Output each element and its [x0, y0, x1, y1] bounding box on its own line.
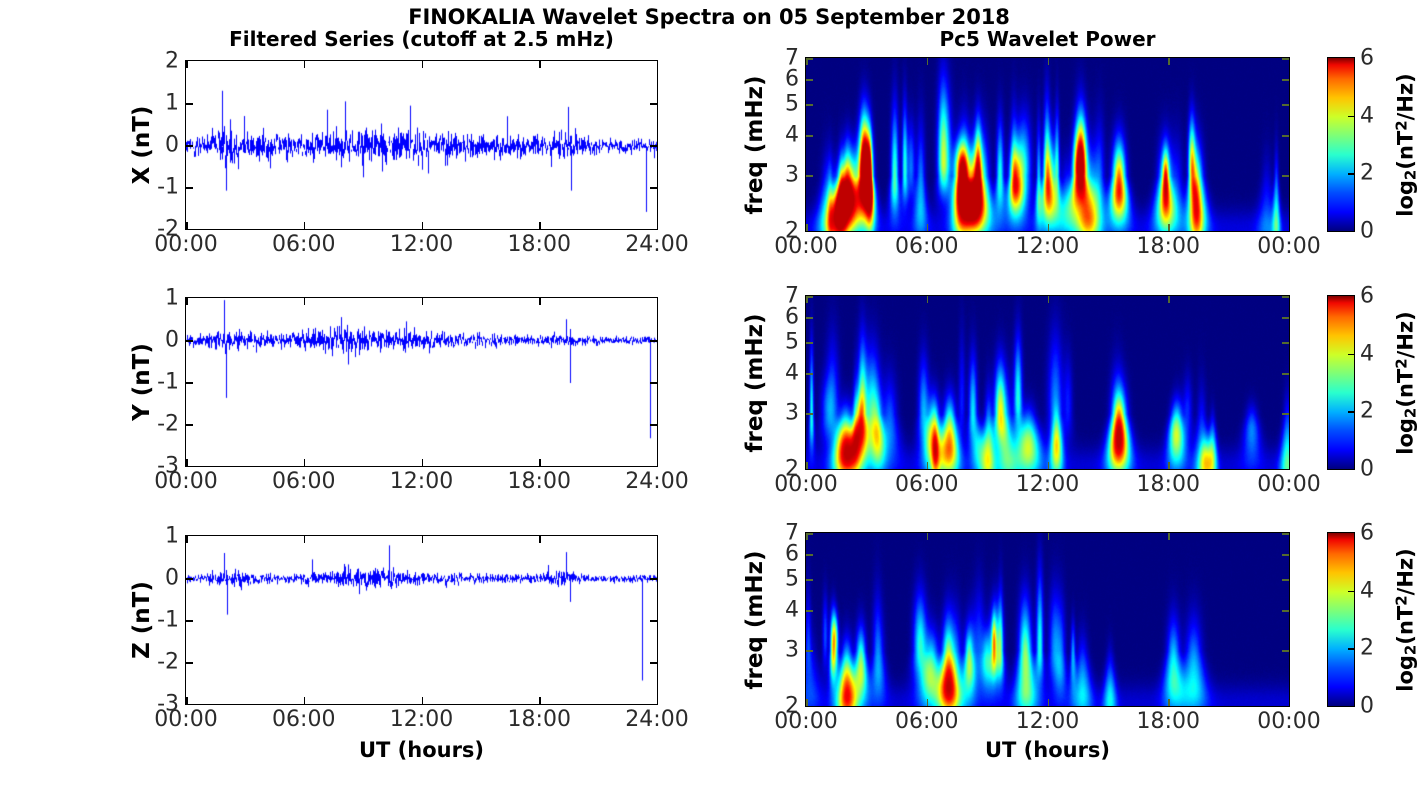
colorbar-z [1327, 532, 1355, 707]
colorbar-tick-label-z-pc5-wavelet-power-1: 2 [1360, 636, 1374, 661]
x-tick-top-y-pc5-wavelet-power-1 [927, 296, 929, 303]
y-tick-y-pc5-wavelet-power-5 [806, 296, 813, 298]
y-tick-y-pc5-wavelet-power-3 [806, 342, 813, 344]
y-tick-r-x-pc5-wavelet-power-4 [1282, 79, 1289, 81]
x-tick-label-z-pc5-wavelet-power-3: 18:00 [1137, 709, 1200, 734]
cb-open-z: (nT [1394, 606, 1418, 645]
colorbar-tick-z-pc5-wavelet-power-1 [1348, 648, 1354, 650]
cb-sup-x: 2 [1393, 120, 1411, 130]
y-tick-label-y-filtered-series-1: -2 [133, 412, 179, 437]
y-tick-label-z-pc5-wavelet-power-5: 7 [759, 521, 799, 546]
x-tick-y-filtered-series-3 [539, 459, 541, 466]
y-tick-y-pc5-wavelet-power-0 [806, 469, 813, 470]
x-tick-label-z-filtered-series-1: 06:00 [272, 707, 335, 732]
x-tick-top-z-pc5-wavelet-power-4 [1289, 533, 1290, 540]
y-tick-label-x-filtered-series-1: -1 [133, 175, 179, 200]
x-tick-x-filtered-series-4 [657, 222, 658, 229]
y-tick-r-z-filtered-series-3 [650, 578, 657, 580]
colorbar-tick-label-y-pc5-wavelet-power-1: 2 [1360, 399, 1374, 424]
x-tick-z-pc5-wavelet-power-1 [927, 699, 929, 706]
heatmap-y [806, 296, 1290, 470]
x-tick-z-pc5-wavelet-power-0 [806, 699, 808, 706]
x-tick-x-pc5-wavelet-power-4 [1289, 224, 1290, 231]
colorbar-tick-label-y-pc5-wavelet-power-3: 6 [1360, 284, 1374, 309]
x-tick-x-pc5-wavelet-power-1 [927, 224, 929, 231]
x-tick-top-x-filtered-series-1 [304, 61, 306, 68]
x-tick-top-y-pc5-wavelet-power-4 [1289, 296, 1290, 303]
y-tick-y-pc5-wavelet-power-1 [806, 413, 813, 415]
y-tick-x-filtered-series-2 [186, 145, 193, 147]
colorbar-tick-y-pc5-wavelet-power-2 [1348, 354, 1354, 356]
x-tick-label-z-filtered-series-2: 12:00 [390, 707, 453, 732]
y-tick-label-x-pc5-wavelet-power-4: 6 [759, 67, 799, 92]
y-tick-label-z-pc5-wavelet-power-0: 2 [759, 694, 799, 719]
colorbar-tick-label-x-pc5-wavelet-power-2: 4 [1360, 103, 1374, 128]
cb-sup-z: 2 [1393, 595, 1411, 605]
plot-y-filtered-series [185, 297, 658, 467]
y-tick-label-y-filtered-series-0: -3 [133, 454, 179, 479]
cb-log-y: log [1394, 418, 1418, 455]
y-tick-label-z-pc5-wavelet-power-3: 5 [759, 567, 799, 592]
y-tick-label-z-filtered-series-1: -2 [133, 650, 179, 675]
y-tick-r-x-filtered-series-3 [650, 103, 657, 105]
colorbar-tick-label-z-pc5-wavelet-power-3: 6 [1360, 521, 1374, 546]
y-tick-label-z-filtered-series-4: 1 [133, 524, 179, 549]
colorbar-tick-label-y-pc5-wavelet-power-2: 4 [1360, 341, 1374, 366]
y-tick-z-pc5-wavelet-power-3 [806, 579, 813, 581]
y-tick-r-z-pc5-wavelet-power-0 [1282, 706, 1289, 707]
y-tick-r-z-pc5-wavelet-power-5 [1282, 533, 1289, 535]
y-tick-r-x-pc5-wavelet-power-2 [1282, 135, 1289, 137]
x-tick-label-z-pc5-wavelet-power-2: 12:00 [1016, 709, 1079, 734]
colorbar-tick-label-y-pc5-wavelet-power-0: 0 [1360, 457, 1374, 482]
y-tick-label-z-pc5-wavelet-power-1: 3 [759, 638, 799, 663]
x-tick-label-y-pc5-wavelet-power-2: 12:00 [1016, 472, 1079, 497]
y-tick-y-filtered-series-3 [186, 340, 193, 342]
x-tick-label-x-pc5-wavelet-power-1: 06:00 [895, 234, 958, 259]
y-tick-label-x-pc5-wavelet-power-2: 4 [759, 123, 799, 148]
colorbar-tick-label-x-pc5-wavelet-power-0: 0 [1360, 219, 1374, 244]
y-tick-r-x-pc5-wavelet-power-1 [1282, 175, 1289, 177]
y-tick-r-x-filtered-series-2 [650, 145, 657, 147]
x-tick-label-x-filtered-series-4: 24:00 [625, 232, 688, 257]
cb-end-x: /Hz) [1394, 73, 1418, 120]
y-tick-z-filtered-series-1 [186, 662, 193, 664]
y-tick-r-y-pc5-wavelet-power-3 [1282, 342, 1289, 344]
y-tick-z-pc5-wavelet-power-4 [806, 554, 813, 556]
cb-sup-y: 2 [1393, 358, 1411, 368]
x-tick-x-pc5-wavelet-power-2 [1048, 224, 1050, 231]
colorbar-tick-y-pc5-wavelet-power-1 [1348, 411, 1354, 413]
y-tick-r-z-pc5-wavelet-power-1 [1282, 650, 1289, 652]
y-tick-x-pc5-wavelet-power-0 [806, 231, 813, 232]
x-tick-y-pc5-wavelet-power-1 [927, 462, 929, 469]
x-tick-top-z-filtered-series-4 [657, 536, 658, 543]
cb-end-y: /Hz) [1394, 311, 1418, 358]
x-tick-top-z-filtered-series-1 [304, 536, 306, 543]
x-tick-z-filtered-series-2 [422, 697, 424, 704]
colorbar-tick-z-pc5-wavelet-power-2 [1348, 591, 1354, 593]
x-tick-top-z-filtered-series-2 [422, 536, 424, 543]
y-tick-z-filtered-series-2 [186, 620, 193, 622]
figure-title: FINOKALIA Wavelet Spectra on 05 Septembe… [0, 5, 1418, 29]
cb-sub-x: 2 [1402, 170, 1418, 180]
x-tick-y-pc5-wavelet-power-3 [1168, 462, 1170, 469]
x-tick-top-x-pc5-wavelet-power-1 [927, 58, 929, 65]
x-tick-x-pc5-wavelet-power-3 [1168, 224, 1170, 231]
colorbar-tick-label-x-pc5-wavelet-power-3: 6 [1360, 46, 1374, 71]
x-tick-top-x-pc5-wavelet-power-3 [1168, 58, 1170, 65]
y-tick-label-y-pc5-wavelet-power-5: 7 [759, 284, 799, 309]
right-column-title: Pc5 Wavelet Power [805, 27, 1290, 51]
x-tick-label-x-pc5-wavelet-power-4: 00:00 [1257, 234, 1320, 259]
x-tick-top-z-pc5-wavelet-power-1 [927, 533, 929, 540]
y-tick-y-filtered-series-1 [186, 424, 193, 426]
x-tick-top-x-filtered-series-0 [186, 61, 188, 68]
cb-sub-z: 2 [1402, 645, 1418, 655]
colorbar-label-z: log2(nT2/Hz) [1393, 548, 1418, 692]
y-tick-label-y-filtered-series-2: -1 [133, 370, 179, 395]
x-tick-label-y-filtered-series-2: 12:00 [390, 469, 453, 494]
y-tick-r-y-filtered-series-3 [650, 340, 657, 342]
y-tick-label-y-pc5-wavelet-power-2: 4 [759, 361, 799, 386]
cb-end-z: /Hz) [1394, 548, 1418, 595]
colorbar-label-y: log2(nT2/Hz) [1393, 311, 1418, 455]
signal-trace-x [186, 61, 658, 230]
spectrogram-x-pc5-power [805, 57, 1290, 232]
x-tick-top-z-filtered-series-0 [186, 536, 188, 543]
y-tick-label-x-pc5-wavelet-power-0: 2 [759, 219, 799, 244]
x-tick-top-z-pc5-wavelet-power-2 [1048, 533, 1050, 540]
y-tick-r-y-filtered-series-2 [650, 382, 657, 384]
y-tick-r-y-filtered-series-1 [650, 424, 657, 426]
colorbar-tick-label-z-pc5-wavelet-power-0: 0 [1360, 694, 1374, 719]
x-tick-label-x-pc5-wavelet-power-3: 18:00 [1137, 234, 1200, 259]
y-tick-r-x-pc5-wavelet-power-0 [1282, 231, 1289, 232]
y-tick-r-z-pc5-wavelet-power-2 [1282, 610, 1289, 612]
y-tick-y-pc5-wavelet-power-4 [806, 317, 813, 319]
colorbar-tick-x-pc5-wavelet-power-1 [1348, 173, 1354, 175]
x-tick-x-filtered-series-1 [304, 222, 306, 229]
x-tick-top-x-filtered-series-3 [539, 61, 541, 68]
x-tick-top-z-filtered-series-3 [539, 536, 541, 543]
x-tick-z-filtered-series-0 [186, 697, 188, 704]
x-tick-y-filtered-series-4 [657, 459, 658, 466]
y-tick-label-z-pc5-wavelet-power-2: 4 [759, 598, 799, 623]
y-tick-x-pc5-wavelet-power-2 [806, 135, 813, 137]
colorbar-tick-label-z-pc5-wavelet-power-2: 4 [1360, 578, 1374, 603]
colorbar-tick-label-x-pc5-wavelet-power-1: 2 [1360, 161, 1374, 186]
x-tick-y-filtered-series-2 [422, 459, 424, 466]
spectrogram-y-pc5-power [805, 295, 1290, 470]
axis-label-ut-hours-right: UT (hours) [805, 738, 1290, 762]
y-tick-label-y-filtered-series-4: 1 [133, 286, 179, 311]
cb-open-y: (nT [1394, 369, 1418, 408]
y-tick-label-z-filtered-series-2: -1 [133, 608, 179, 633]
y-tick-label-y-filtered-series-3: 0 [133, 328, 179, 353]
x-tick-label-z-pc5-wavelet-power-1: 06:00 [895, 709, 958, 734]
plot-z-filtered-series [185, 535, 658, 705]
x-tick-y-filtered-series-0 [186, 459, 188, 466]
x-tick-top-y-filtered-series-2 [422, 298, 424, 305]
x-tick-x-filtered-series-2 [422, 222, 424, 229]
y-tick-label-x-pc5-wavelet-power-1: 3 [759, 163, 799, 188]
heatmap-x [806, 58, 1290, 232]
figure-canvas: FINOKALIA Wavelet Spectra on 05 Septembe… [0, 0, 1418, 788]
cb-log-x: log [1394, 180, 1418, 217]
y-tick-r-y-pc5-wavelet-power-1 [1282, 413, 1289, 415]
y-tick-r-z-pc5-wavelet-power-3 [1282, 579, 1289, 581]
x-tick-x-pc5-wavelet-power-0 [806, 224, 808, 231]
spectrogram-z-pc5-power [805, 532, 1290, 707]
x-tick-z-filtered-series-1 [304, 697, 306, 704]
x-tick-label-x-filtered-series-2: 12:00 [390, 232, 453, 257]
y-tick-r-z-filtered-series-2 [650, 620, 657, 622]
colorbar-x [1327, 57, 1355, 232]
x-tick-y-pc5-wavelet-power-2 [1048, 462, 1050, 469]
x-tick-x-filtered-series-3 [539, 222, 541, 229]
x-tick-y-pc5-wavelet-power-0 [806, 462, 808, 469]
axis-label-ut-hours-left: UT (hours) [185, 738, 658, 762]
y-tick-r-z-pc5-wavelet-power-4 [1282, 554, 1289, 556]
y-tick-label-x-filtered-series-4: 2 [133, 49, 179, 74]
signal-trace-z [186, 536, 658, 705]
x-tick-top-x-filtered-series-2 [422, 61, 424, 68]
y-tick-r-x-filtered-series-1 [650, 187, 657, 189]
y-tick-label-x-filtered-series-3: 1 [133, 91, 179, 116]
y-tick-label-x-filtered-series-0: -2 [133, 217, 179, 242]
y-tick-label-z-filtered-series-3: 0 [133, 566, 179, 591]
y-tick-x-filtered-series-3 [186, 103, 193, 105]
y-tick-label-y-pc5-wavelet-power-4: 6 [759, 305, 799, 330]
x-tick-label-z-pc5-wavelet-power-4: 00:00 [1257, 709, 1320, 734]
cb-log-z: log [1394, 655, 1418, 692]
y-tick-r-y-pc5-wavelet-power-4 [1282, 317, 1289, 319]
left-column-title: Filtered Series (cutoff at 2.5 mHz) [185, 27, 658, 51]
x-tick-label-z-filtered-series-4: 24:00 [625, 707, 688, 732]
cb-open-x: (nT [1394, 131, 1418, 170]
x-tick-z-pc5-wavelet-power-3 [1168, 699, 1170, 706]
y-tick-x-pc5-wavelet-power-3 [806, 104, 813, 106]
x-tick-top-x-pc5-wavelet-power-4 [1289, 58, 1290, 65]
x-tick-z-pc5-wavelet-power-2 [1048, 699, 1050, 706]
x-tick-label-y-filtered-series-4: 24:00 [625, 469, 688, 494]
x-tick-label-x-pc5-wavelet-power-2: 12:00 [1016, 234, 1079, 259]
x-tick-label-y-pc5-wavelet-power-3: 18:00 [1137, 472, 1200, 497]
y-tick-y-filtered-series-2 [186, 382, 193, 384]
y-tick-label-x-pc5-wavelet-power-5: 7 [759, 46, 799, 71]
x-tick-top-y-filtered-series-3 [539, 298, 541, 305]
x-tick-z-filtered-series-3 [539, 697, 541, 704]
y-tick-x-filtered-series-1 [186, 187, 193, 189]
signal-trace-y [186, 298, 658, 467]
heatmap-z [806, 533, 1290, 707]
y-tick-z-pc5-wavelet-power-2 [806, 610, 813, 612]
colorbar-y [1327, 295, 1355, 470]
y-tick-label-x-filtered-series-2: 0 [133, 133, 179, 158]
y-tick-x-pc5-wavelet-power-1 [806, 175, 813, 177]
x-tick-top-y-pc5-wavelet-power-2 [1048, 296, 1050, 303]
x-tick-top-x-filtered-series-4 [657, 61, 658, 68]
colorbar-tick-x-pc5-wavelet-power-2 [1348, 116, 1354, 118]
y-tick-z-pc5-wavelet-power-0 [806, 706, 813, 707]
y-tick-label-z-pc5-wavelet-power-4: 6 [759, 542, 799, 567]
x-tick-top-z-pc5-wavelet-power-3 [1168, 533, 1170, 540]
y-tick-label-y-pc5-wavelet-power-1: 3 [759, 401, 799, 426]
y-tick-label-x-pc5-wavelet-power-3: 5 [759, 92, 799, 117]
x-tick-y-filtered-series-1 [304, 459, 306, 466]
x-tick-label-y-filtered-series-1: 06:00 [272, 469, 335, 494]
x-tick-top-y-pc5-wavelet-power-3 [1168, 296, 1170, 303]
y-tick-r-y-pc5-wavelet-power-0 [1282, 469, 1289, 470]
y-tick-label-z-filtered-series-0: -3 [133, 692, 179, 717]
y-tick-r-y-pc5-wavelet-power-2 [1282, 373, 1289, 375]
y-tick-r-z-filtered-series-1 [650, 662, 657, 664]
y-tick-z-filtered-series-3 [186, 578, 193, 580]
x-tick-label-x-filtered-series-1: 06:00 [272, 232, 335, 257]
x-tick-z-pc5-wavelet-power-4 [1289, 699, 1290, 706]
x-tick-label-x-filtered-series-3: 18:00 [508, 232, 571, 257]
x-tick-label-y-pc5-wavelet-power-4: 00:00 [1257, 472, 1320, 497]
y-tick-label-y-pc5-wavelet-power-3: 5 [759, 330, 799, 355]
x-tick-z-filtered-series-4 [657, 697, 658, 704]
x-tick-label-y-pc5-wavelet-power-1: 06:00 [895, 472, 958, 497]
y-tick-x-pc5-wavelet-power-4 [806, 79, 813, 81]
x-tick-label-y-filtered-series-3: 18:00 [508, 469, 571, 494]
y-tick-r-x-pc5-wavelet-power-3 [1282, 104, 1289, 106]
x-tick-x-filtered-series-0 [186, 222, 188, 229]
x-tick-top-y-filtered-series-4 [657, 298, 658, 305]
x-tick-top-x-pc5-wavelet-power-2 [1048, 58, 1050, 65]
y-tick-x-pc5-wavelet-power-5 [806, 58, 813, 60]
plot-x-filtered-series [185, 60, 658, 230]
x-tick-top-y-filtered-series-0 [186, 298, 188, 305]
y-tick-z-pc5-wavelet-power-5 [806, 533, 813, 535]
y-tick-z-pc5-wavelet-power-1 [806, 650, 813, 652]
y-tick-label-y-pc5-wavelet-power-0: 2 [759, 457, 799, 482]
colorbar-label-x: log2(nT2/Hz) [1393, 73, 1418, 217]
x-tick-y-pc5-wavelet-power-4 [1289, 462, 1290, 469]
y-tick-r-x-pc5-wavelet-power-5 [1282, 58, 1289, 60]
x-tick-top-y-filtered-series-1 [304, 298, 306, 305]
y-tick-y-pc5-wavelet-power-2 [806, 373, 813, 375]
y-tick-r-y-pc5-wavelet-power-5 [1282, 296, 1289, 298]
cb-sub-y: 2 [1402, 408, 1418, 418]
x-tick-label-z-filtered-series-3: 18:00 [508, 707, 571, 732]
